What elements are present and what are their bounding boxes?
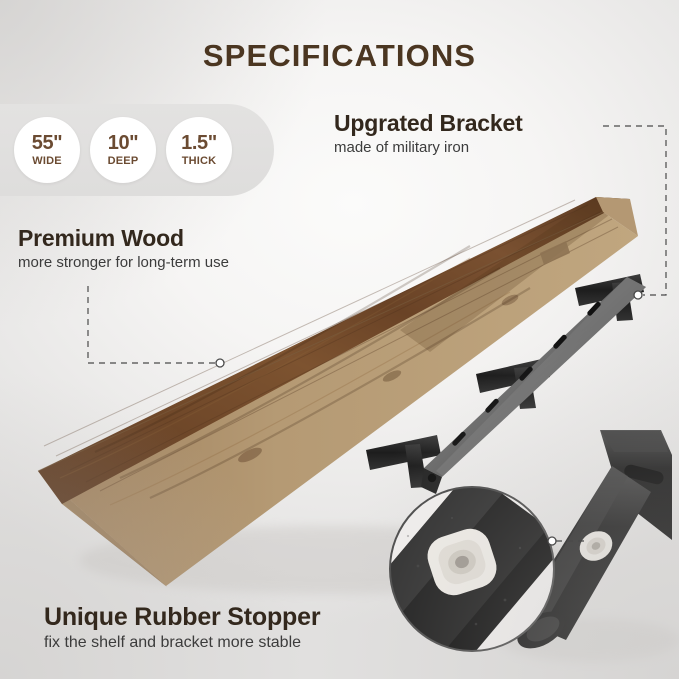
badge-depth: 10" DEEP (90, 117, 156, 183)
badge-depth-value: 10" (108, 133, 139, 153)
specifications-infographic: SPECIFICATIONS 55" WIDE 10" DEEP 1.5" TH… (0, 0, 679, 679)
badge-width: 55" WIDE (14, 117, 80, 183)
badge-width-label: WIDE (32, 156, 62, 167)
callout-wood-title: Premium Wood (18, 225, 229, 252)
callout-wood: Premium Wood more stronger for long-term… (18, 225, 229, 271)
callout-stopper-title: Unique Rubber Stopper (44, 603, 320, 632)
badge-thickness: 1.5" THICK (166, 117, 232, 183)
badge-thickness-label: THICK (182, 156, 217, 167)
spec-badge-group: 55" WIDE 10" DEEP 1.5" THICK (0, 104, 274, 196)
callout-stopper: Unique Rubber Stopper fix the shelf and … (44, 603, 320, 652)
badge-width-value: 55" (32, 133, 63, 153)
leader-endpoint-wood (216, 359, 224, 367)
callout-wood-subtitle: more stronger for long-term use (18, 254, 229, 271)
callout-bracket-title: Upgrated Bracket (334, 110, 523, 137)
leader-line-bracket (603, 126, 666, 295)
badge-thickness-value: 1.5" (181, 133, 217, 153)
page-title: SPECIFICATIONS (0, 38, 679, 74)
callout-bracket-subtitle: made of military iron (334, 139, 523, 156)
badge-depth-label: DEEP (108, 156, 139, 167)
leader-endpoint-stopper (548, 537, 556, 545)
callout-bracket: Upgrated Bracket made of military iron (334, 110, 523, 156)
callout-stopper-subtitle: fix the shelf and bracket more stable (44, 634, 320, 652)
callout-leader-lines (0, 0, 679, 679)
leader-endpoint-bracket (634, 291, 642, 299)
leader-line-wood (88, 286, 215, 363)
